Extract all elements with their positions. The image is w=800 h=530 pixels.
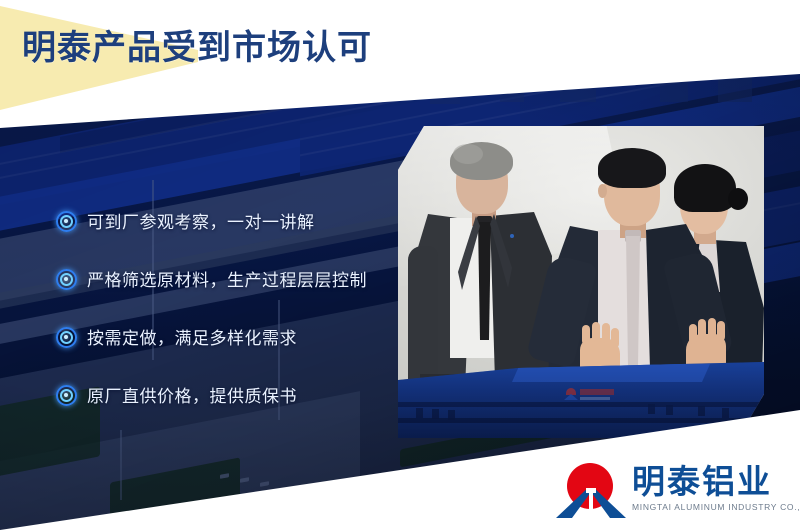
mingtai-sun-mountain-icon <box>556 462 626 518</box>
list-item: 按需定做，满足多样化需求 <box>56 324 396 349</box>
promo-banner: 明泰产品受到市场认可 可到厂参观考察，一对一讲解 严格筛选原材料，生产过程层层控… <box>0 0 800 530</box>
business-people-photo <box>398 126 764 438</box>
target-ring-icon <box>56 385 75 404</box>
list-item-label: 原厂直供价格，提供质保书 <box>87 382 297 407</box>
target-ring-icon <box>56 211 75 230</box>
list-item: 严格筛选原材料，生产过程层层控制 <box>56 266 396 291</box>
list-item: 可到厂参观考察，一对一讲解 <box>56 208 396 233</box>
list-item-label: 严格筛选原材料，生产过程层层控制 <box>87 266 367 291</box>
list-item: 原厂直供价格，提供质保书 <box>56 382 396 407</box>
feature-list: 可到厂参观考察，一对一讲解 严格筛选原材料，生产过程层层控制 按需定做，满足多样… <box>56 208 396 407</box>
list-item-label: 按需定做，满足多样化需求 <box>87 324 297 349</box>
company-logo: 明泰铝业 MINGTAI ALUMINUM INDUSTRY CO., LTD <box>556 462 786 520</box>
company-name-en: MINGTAI ALUMINUM INDUSTRY CO., LTD <box>632 502 800 512</box>
list-item-label: 可到厂参观考察，一对一讲解 <box>87 208 315 233</box>
page-title: 明泰产品受到市场认可 <box>22 28 372 68</box>
company-name-cn: 明泰铝业 <box>632 464 800 500</box>
target-ring-icon <box>56 327 75 346</box>
lapel-pin-icon <box>510 234 514 238</box>
target-ring-icon <box>56 269 75 288</box>
